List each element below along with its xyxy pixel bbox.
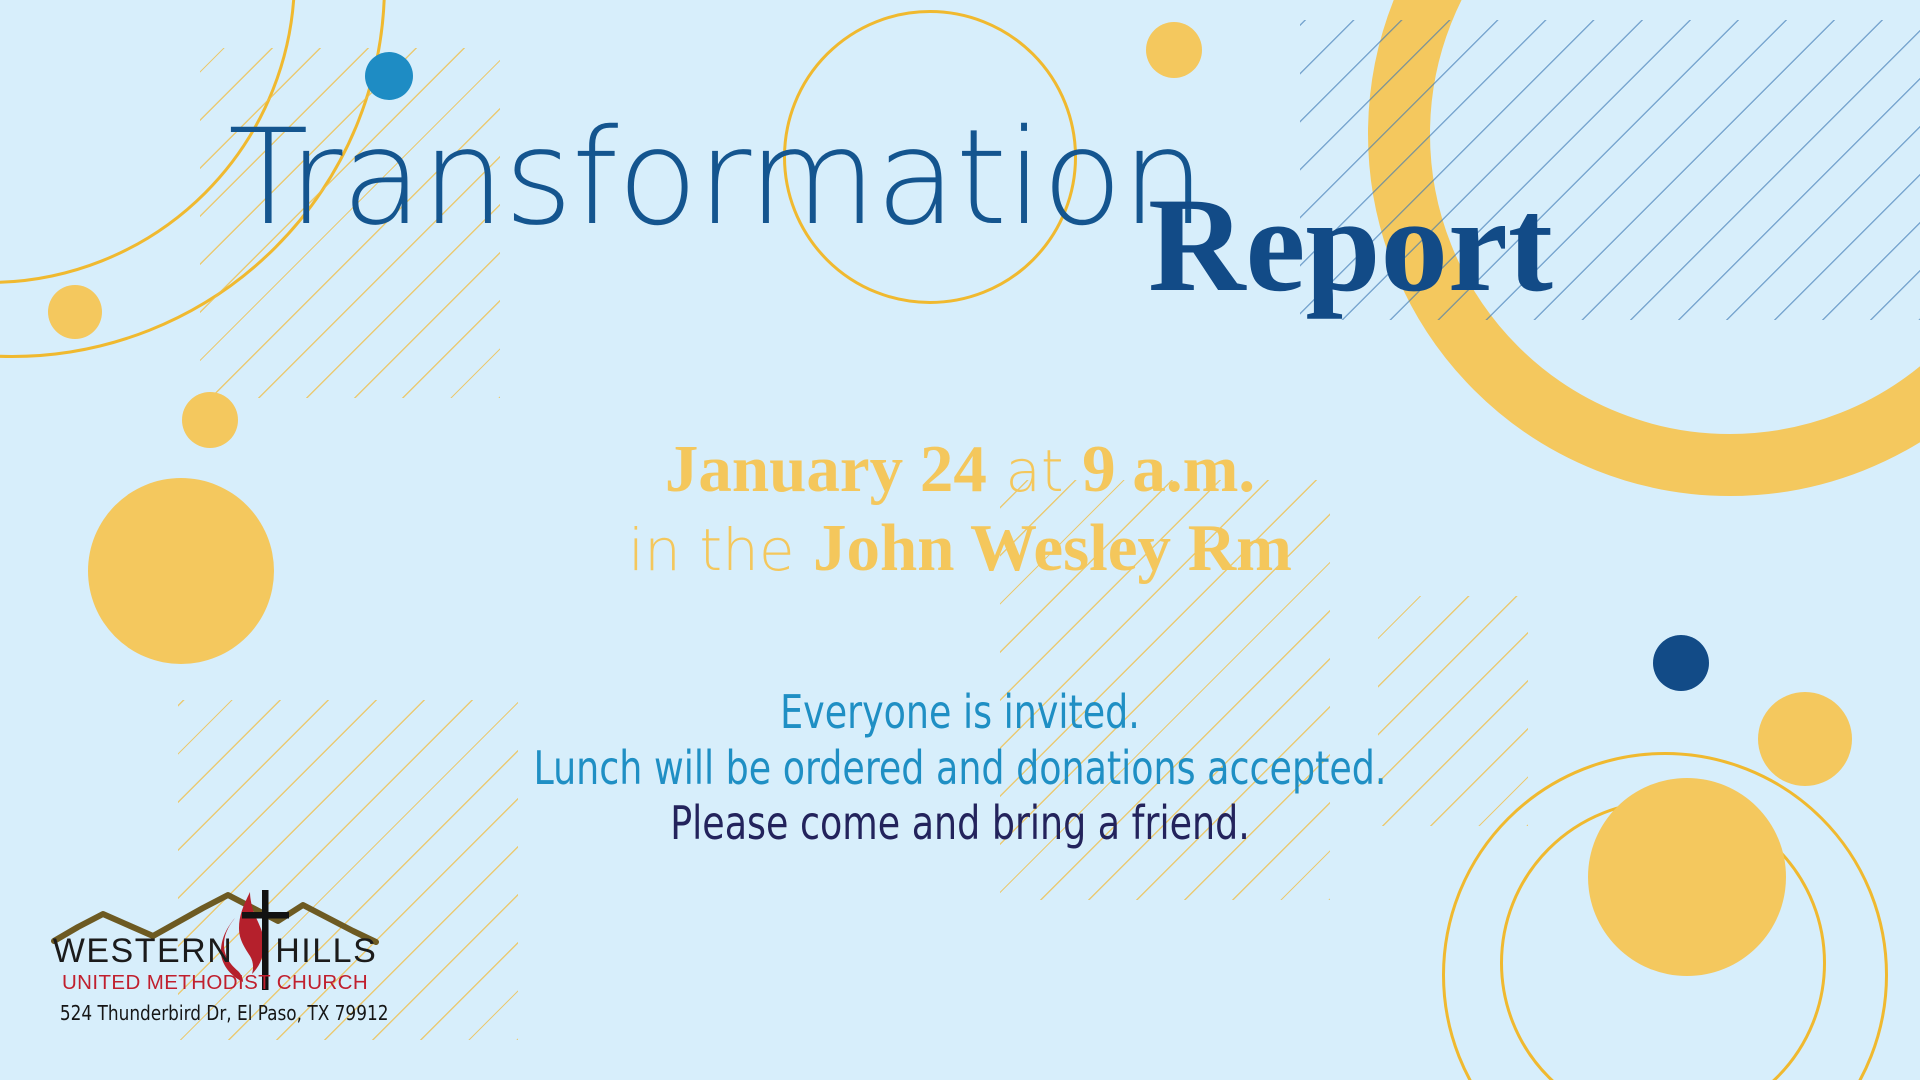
logo-church-name: WESTERNHILLS <box>50 934 380 968</box>
logo-name-right: HILLS <box>275 932 377 970</box>
title-report: Report <box>1148 178 1553 313</box>
event-date: January 24 <box>665 432 987 506</box>
body-line-2: Lunch will be ordered and donations acce… <box>115 741 1805 797</box>
logo-denomination: UNITED METHODIST CHURCH <box>50 973 380 994</box>
body-line-1: Everyone is invited. <box>115 685 1805 741</box>
headline: Transformation Report <box>0 0 1920 340</box>
event-room: John Wesley Rm <box>813 511 1292 585</box>
event-details: January 24 at 9 a.m. in the John Wesley … <box>0 430 1920 588</box>
event-at-word: at <box>1005 437 1063 505</box>
poster-canvas: Transformation Report January 24 at 9 a.… <box>0 0 1920 1080</box>
event-line-location: in the John Wesley Rm <box>0 509 1920 588</box>
event-time: 9 a.m. <box>1082 432 1255 506</box>
event-in-the-word: in the <box>628 516 795 584</box>
body-line-3: Please come and bring a friend. <box>115 796 1805 852</box>
body-copy: Everyone is invited. Lunch will be order… <box>0 685 1920 852</box>
title-transformation: Transformation <box>228 112 1204 244</box>
logo-wordmark: WESTERNHILLS UNITED METHODIST CHURCH 524… <box>50 934 380 1023</box>
event-line-date: January 24 at 9 a.m. <box>0 430 1920 509</box>
church-logo: WESTERNHILLS UNITED METHODIST CHURCH 524… <box>50 878 380 1043</box>
logo-address: 524 Thunderbird Dr, El Paso, TX 79912 <box>60 1003 370 1023</box>
decor-dot-navy-bottomright <box>1653 635 1709 691</box>
logo-name-left: WESTERN <box>53 932 234 970</box>
